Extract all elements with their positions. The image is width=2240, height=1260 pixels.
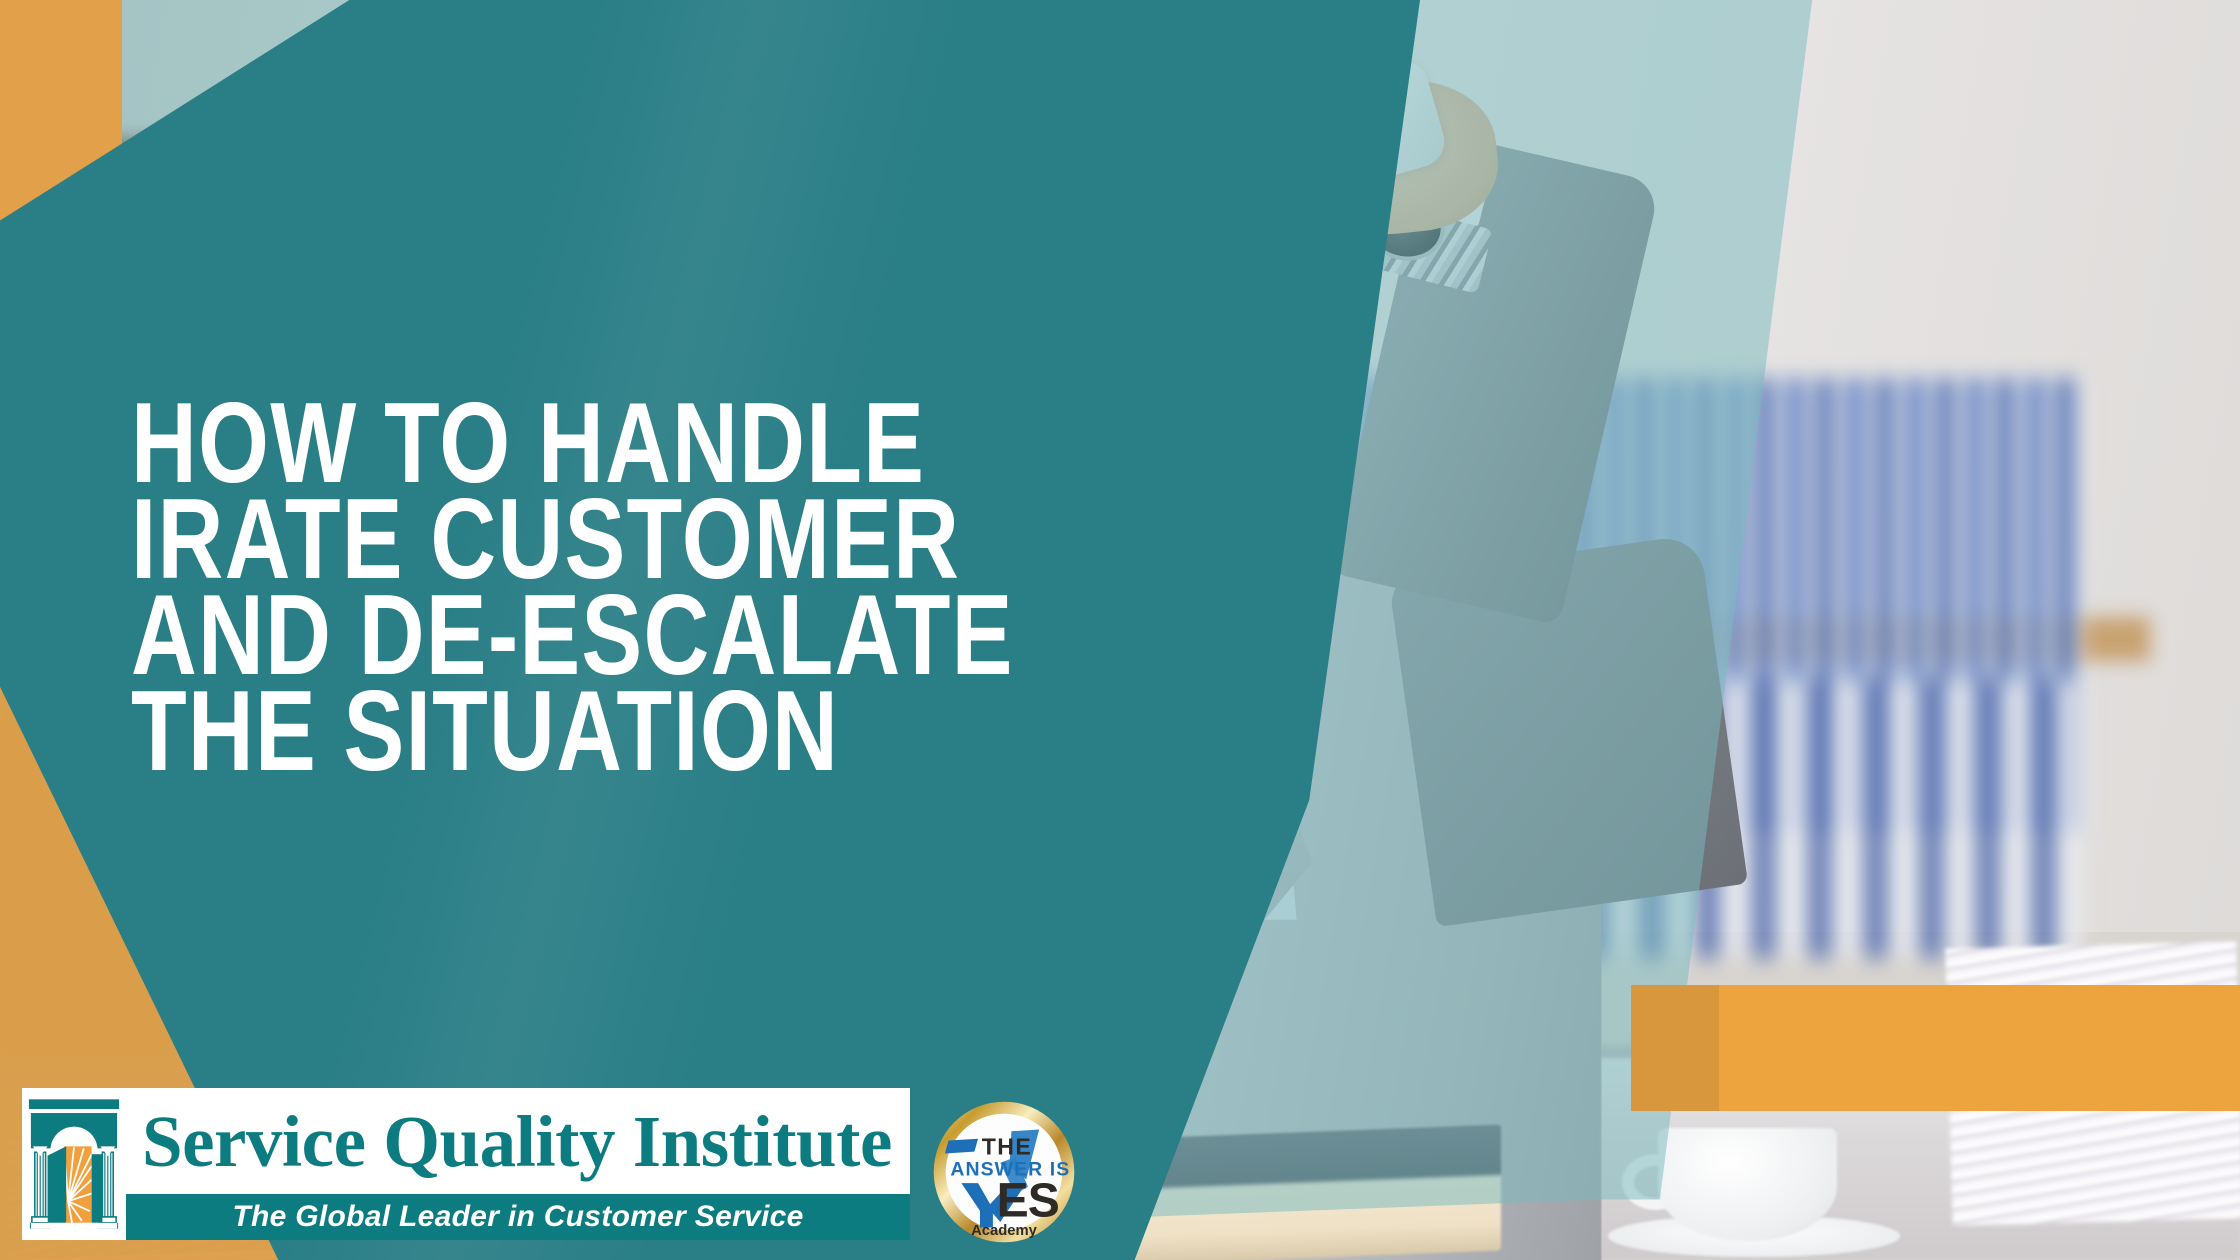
- svg-text:Academy: Academy: [971, 1223, 1038, 1239]
- svg-text:THE: THE: [982, 1133, 1032, 1159]
- svg-text:ES: ES: [997, 1173, 1059, 1227]
- answer-is-yes-academy-seal[interactable]: THE ANSWER IS ES Academy: [930, 1098, 1078, 1246]
- promo-banner: HOW TO HANDLE IRATE CUSTOMER AND DE-ESCA…: [0, 0, 2240, 1260]
- orange-right-bar-shadow: [1631, 985, 1719, 1111]
- orange-right-bar: [1631, 985, 2240, 1111]
- logo-tagline: The Global Leader in Customer Service: [126, 1194, 910, 1240]
- coffee-cup: [1658, 1128, 1837, 1241]
- sqi-logo[interactable]: Service Quality Institute The Global Lea…: [22, 1088, 910, 1240]
- logo-text-block: Service Quality Institute The Global Lea…: [126, 1088, 910, 1240]
- logo-company-name: Service Quality Institute: [126, 1088, 910, 1194]
- archway-columns-sunburst-icon: [22, 1088, 126, 1240]
- page-title: HOW TO HANDLE IRATE CUSTOMER AND DE-ESCA…: [131, 396, 1011, 780]
